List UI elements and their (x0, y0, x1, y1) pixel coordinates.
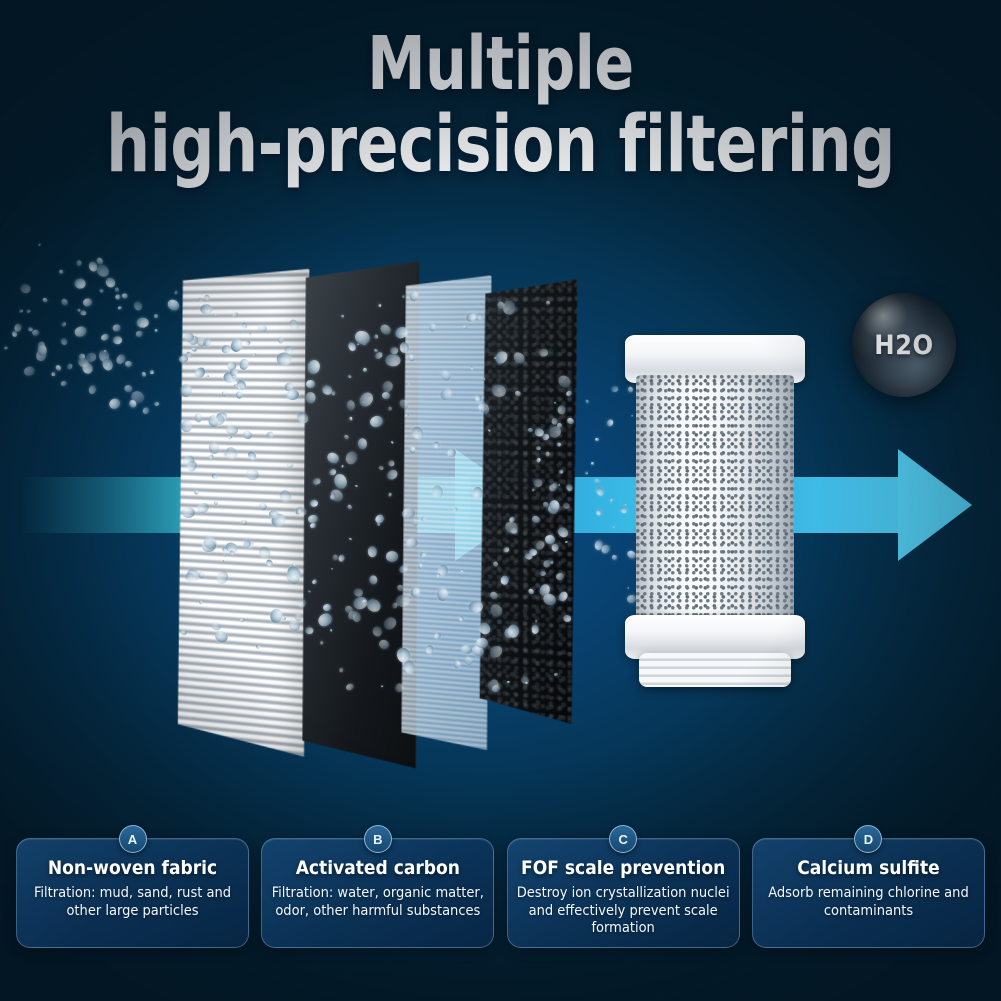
water-droplet (438, 368, 452, 382)
feature-card-a: A Non-woven fabric Filtration: mud, sand… (16, 838, 249, 948)
water-droplet (465, 311, 478, 325)
water-droplet (595, 486, 606, 497)
water-droplet (411, 517, 420, 526)
water-droplet (226, 425, 238, 435)
water-droplet (362, 367, 368, 372)
water-droplet (542, 501, 549, 508)
feature-card-c: C FOF scale prevention Destroy ion cryst… (507, 838, 740, 948)
water-droplet (402, 659, 417, 675)
water-droplet (418, 563, 422, 568)
water-droplet (436, 573, 440, 577)
water-droplet (214, 314, 218, 318)
infographic-root: Multiple high-precision filtering (0, 0, 1001, 1001)
water-droplet (23, 365, 36, 377)
water-droplet (242, 429, 254, 440)
water-droplet (26, 309, 31, 314)
water-droplet (240, 519, 248, 526)
water-droplet (287, 318, 301, 332)
water-droplet (558, 470, 563, 474)
water-droplet (142, 406, 151, 415)
water-droplet (468, 600, 484, 614)
water-droplet (214, 569, 231, 586)
water-droplet (473, 486, 485, 499)
water-droplet (611, 386, 619, 393)
card-desc-c: Destroy ion crystallization nuclei and e… (516, 885, 731, 938)
card-badge-c: C (609, 825, 637, 853)
cartridge-mesh-body (636, 375, 794, 625)
water-droplet (420, 551, 427, 557)
water-droplet (149, 371, 154, 375)
filter-cartridge (625, 335, 805, 695)
water-droplet (565, 390, 573, 398)
water-droplet (460, 644, 472, 655)
water-droplet (266, 431, 274, 439)
water-droplet (566, 417, 575, 426)
water-droplet (338, 554, 346, 563)
water-droplet (246, 341, 250, 345)
water-droplet (538, 349, 547, 357)
water-droplet (330, 629, 333, 632)
water-droplet (255, 644, 261, 649)
water-droplet (493, 561, 500, 568)
water-droplet (108, 396, 123, 410)
water-droplet (401, 295, 405, 299)
water-droplet (112, 336, 122, 345)
card-badge-b: B (364, 825, 392, 853)
water-droplet (489, 590, 499, 600)
water-droplet (405, 536, 420, 550)
water-droplet (257, 324, 267, 332)
water-droplet (175, 290, 179, 294)
water-droplet (51, 372, 55, 377)
water-droplet (298, 599, 308, 609)
water-droplet (545, 300, 550, 306)
water-droplet (549, 561, 553, 565)
water-droplet (562, 614, 571, 622)
water-droplet (75, 260, 81, 267)
water-droplet (595, 438, 599, 442)
water-droplet (437, 588, 449, 602)
water-droplet (439, 386, 453, 401)
arrow-head (898, 449, 972, 561)
water-droplet (431, 485, 444, 500)
water-droplet (132, 300, 143, 312)
water-droplet (59, 269, 64, 274)
water-droplet (247, 450, 258, 461)
water-droplet (195, 501, 210, 515)
water-droplet (81, 310, 87, 316)
water-droplet (154, 401, 160, 406)
card-title-a: Non-woven fabric (25, 859, 240, 879)
water-droplet (454, 660, 462, 669)
card-desc-d: Adsorb remaining chlorine and contaminan… (761, 885, 976, 920)
water-droplet (500, 575, 509, 585)
water-droplet (347, 341, 358, 352)
water-droplet (182, 331, 196, 344)
water-droplet (476, 621, 492, 637)
water-droplet (141, 372, 146, 377)
water-droplet (185, 459, 198, 473)
water-droplet (306, 358, 321, 374)
water-droplet (557, 442, 562, 447)
water-droplet (381, 685, 383, 687)
feature-card-b: B Activated carbon Filtration: water, or… (261, 838, 494, 948)
card-title-c: FOF scale prevention (516, 859, 731, 879)
water-droplet (408, 381, 411, 385)
water-droplet (155, 329, 159, 332)
water-droplet (533, 478, 543, 486)
water-droplet (377, 304, 381, 307)
water-droplet (585, 472, 589, 476)
water-droplet (246, 468, 260, 480)
water-droplet (232, 311, 240, 318)
water-droplet (3, 346, 7, 350)
water-droplet (117, 306, 121, 310)
water-droplet (269, 608, 283, 624)
water-droplet (557, 405, 565, 415)
water-droplet (249, 333, 252, 336)
water-droplet (409, 291, 419, 302)
water-droplet (73, 325, 88, 339)
water-droplet (114, 286, 120, 292)
water-droplet (374, 351, 384, 361)
page-title: Multiple high-precision filtering (0, 28, 1001, 183)
water-droplet (369, 415, 385, 430)
water-droplet (343, 434, 349, 440)
water-droplet (32, 329, 39, 335)
water-droplet (396, 584, 405, 593)
water-droplet (596, 509, 602, 516)
water-droplet (408, 445, 416, 454)
water-droplet (258, 502, 268, 512)
card-desc-b: Filtration: water, organic matter, odor,… (270, 885, 485, 920)
water-droplet (531, 515, 541, 524)
water-droplet (392, 602, 398, 609)
water-droplet (307, 514, 319, 524)
water-droplet (545, 451, 549, 456)
water-droplet (387, 492, 391, 497)
water-droplet (514, 390, 521, 397)
water-droplet (214, 500, 220, 506)
water-droplet (420, 516, 427, 523)
water-droplet (320, 640, 323, 644)
water-droplet (463, 325, 468, 329)
water-droplet (38, 345, 47, 356)
water-droplet (60, 298, 69, 307)
water-droplet (182, 507, 195, 518)
water-droplet (341, 465, 344, 468)
water-droplet (203, 293, 211, 301)
water-droplet (66, 363, 74, 371)
water-droplet (362, 599, 368, 604)
water-droplet (154, 314, 159, 318)
water-droplet (181, 384, 192, 397)
water-droplet (286, 462, 293, 468)
water-droplet (306, 380, 316, 388)
water-droplet (74, 279, 85, 289)
water-droplet (463, 654, 475, 666)
water-droplet (19, 283, 30, 293)
water-droplet (477, 313, 485, 321)
water-droplet (483, 377, 486, 380)
water-droplet (558, 484, 560, 486)
water-droplet (339, 667, 344, 673)
water-droplet (197, 297, 203, 302)
water-droplet (200, 304, 212, 314)
water-droplet (460, 569, 464, 574)
water-droplet (211, 473, 218, 479)
water-droplet (277, 336, 284, 344)
water-droplet (239, 617, 245, 623)
water-droplet (353, 588, 363, 597)
water-droplet (213, 414, 227, 427)
water-droplet (511, 350, 527, 366)
water-droplet (585, 399, 590, 404)
water-droplet (233, 384, 236, 387)
water-droplet (487, 428, 491, 432)
water-droplet (135, 330, 144, 338)
water-droplet (610, 499, 614, 502)
card-badge-a: A (119, 825, 147, 853)
water-droplet (82, 297, 93, 307)
water-droplet (487, 643, 505, 660)
water-droplet (459, 616, 463, 621)
h2o-badge-label: H2O (874, 330, 933, 361)
card-badge-d: D (854, 825, 882, 853)
water-droplet (230, 338, 243, 353)
water-droplet (60, 337, 69, 346)
water-droplet (136, 317, 148, 328)
water-droplet (309, 523, 317, 530)
water-droplet (469, 365, 474, 370)
water-droplet (382, 392, 390, 399)
water-droplet (591, 462, 594, 465)
title-line-1: Multiple (60, 28, 941, 101)
water-droplet (507, 681, 510, 683)
water-droplet (292, 563, 295, 567)
card-desc-a: Filtration: mud, sand, rust and other la… (25, 885, 240, 920)
water-droplet (195, 490, 199, 495)
water-droplet (503, 546, 511, 554)
water-droplet (123, 384, 132, 392)
water-droplet (504, 628, 515, 640)
water-droplet (488, 602, 504, 619)
water-droplet (425, 645, 434, 655)
water-droplet (453, 507, 458, 512)
water-droplet (121, 293, 128, 299)
water-droplet (296, 410, 311, 425)
water-droplet (593, 477, 601, 485)
water-droplet (228, 435, 233, 440)
arrow-shaft (790, 477, 910, 533)
water-droplet (386, 551, 399, 562)
water-droplet (198, 571, 206, 580)
card-title-d: Calcium sulfite (761, 859, 976, 879)
flow-arrow-4-icon (790, 425, 1001, 585)
water-droplet (282, 616, 287, 620)
water-droplet (304, 626, 313, 634)
water-droplet (535, 445, 540, 449)
water-droplet (223, 554, 226, 557)
water-droplet (100, 332, 110, 341)
water-droplet (387, 406, 392, 411)
water-droplet (308, 590, 311, 593)
water-droplet (42, 297, 48, 303)
water-droplet (491, 384, 507, 398)
feature-card-row: A Non-woven fabric Filtration: mud, sand… (0, 838, 1001, 963)
water-droplet (611, 554, 617, 560)
water-droplet (341, 314, 344, 318)
card-title-b: Activated carbon (270, 859, 485, 879)
water-droplet (60, 321, 67, 328)
water-droplet (312, 477, 321, 486)
water-droplet (100, 357, 114, 372)
water-droplet (369, 575, 378, 585)
water-droplet (257, 544, 273, 561)
water-droplet (229, 367, 239, 377)
water-droplet (432, 441, 440, 450)
water-droplet (235, 391, 242, 399)
water-droplet (565, 541, 568, 544)
water-droplet (114, 293, 121, 300)
water-droplet (221, 560, 224, 563)
water-droplet (433, 631, 441, 640)
water-droplet (277, 352, 293, 366)
feature-card-d: D Calcium sulfite Adsorb remaining chlor… (752, 838, 985, 948)
water-droplet (554, 673, 559, 677)
water-droplet (562, 502, 570, 509)
water-droplet (310, 500, 318, 507)
water-droplet (371, 625, 383, 638)
water-droplet (535, 457, 541, 463)
water-droplet (429, 323, 437, 332)
water-droplet (535, 619, 538, 622)
water-droplet (374, 513, 386, 525)
filter-layers-scene (0, 250, 1001, 790)
water-droplet (18, 309, 23, 313)
water-droplet (312, 579, 318, 585)
water-droplet (209, 454, 214, 460)
water-droplet (125, 361, 132, 367)
water-droplet (181, 629, 188, 635)
water-droplet (278, 488, 294, 504)
water-droplet (166, 298, 181, 313)
water-droplet (305, 391, 316, 403)
water-droplet (98, 288, 103, 293)
water-droplet (606, 419, 614, 428)
water-droplet (397, 563, 409, 574)
water-splash-layer-c (330, 290, 560, 690)
water-droplet (87, 385, 96, 395)
water-droplet (223, 445, 240, 462)
water-droplet (409, 424, 426, 441)
water-droplet (38, 243, 41, 247)
h2o-badge-icon: H2O (852, 293, 956, 397)
water-droplet (288, 620, 301, 631)
water-droplet (358, 438, 368, 449)
water-droplet (347, 504, 354, 511)
title-line-2: high-precision filtering (60, 107, 941, 183)
water-droplet (347, 374, 352, 378)
water-droplet (207, 441, 220, 455)
water-droplet (112, 324, 121, 332)
water-droplet (11, 330, 17, 337)
water-droplet (532, 488, 535, 491)
water-droplet (199, 601, 203, 605)
water-droplet (612, 526, 615, 530)
water-droplet (331, 567, 334, 570)
water-droplet (60, 380, 68, 387)
water-droplet (566, 483, 574, 491)
water-droplet (520, 675, 530, 685)
cartridge-threaded-ring (639, 653, 791, 687)
water-droplet (556, 422, 563, 428)
water-droplet (476, 637, 489, 648)
water-droplet (55, 364, 63, 372)
water-droplet (554, 402, 557, 405)
water-droplet (446, 447, 458, 459)
